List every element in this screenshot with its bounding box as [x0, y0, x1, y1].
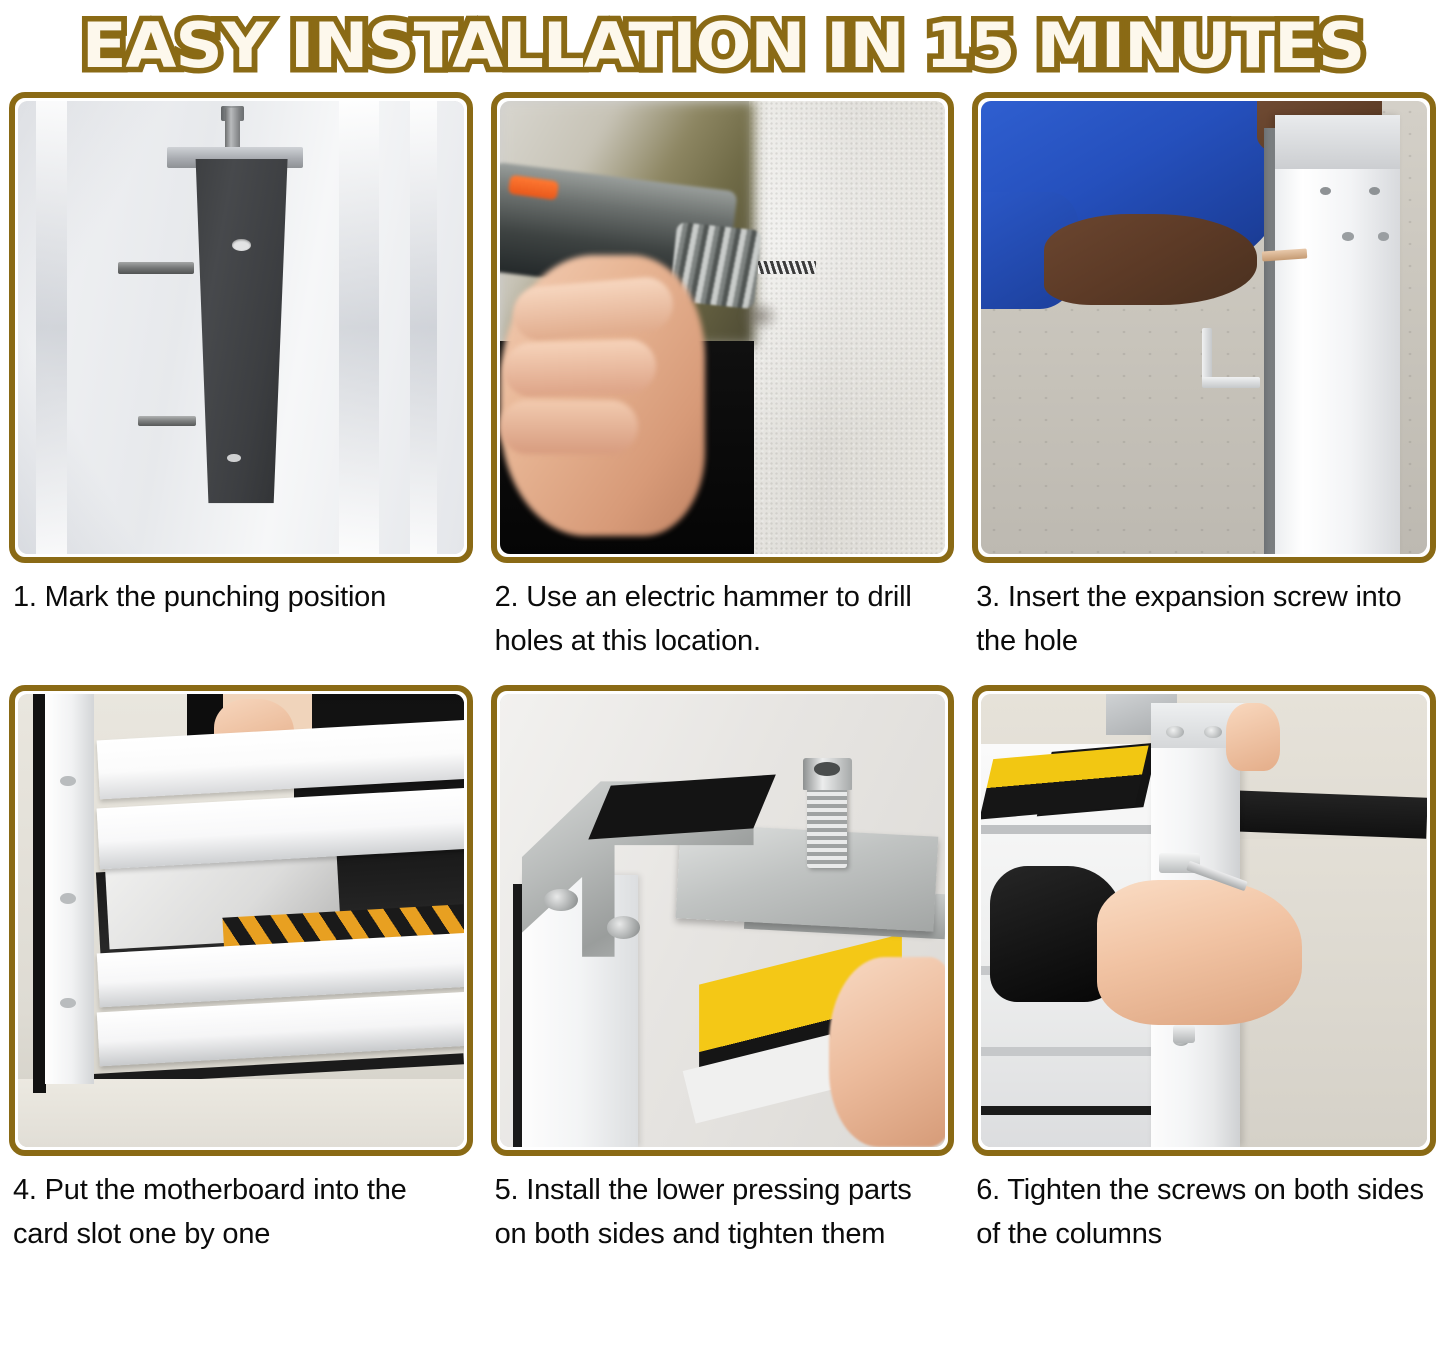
step-3-photo-frame [972, 92, 1436, 563]
installation-steps-grid: 1. Mark the punching position [0, 92, 1445, 1256]
side-bolt-lower [138, 416, 196, 426]
step-6-caption: 6. Tighten the screws on both sides of t… [972, 1168, 1436, 1256]
step-6-photo-tighten-screws [981, 694, 1427, 1147]
cloth-crease [410, 101, 437, 554]
finger [500, 400, 638, 454]
title-banner: EASY INSTALLATION IN 15 MINUTES [0, 0, 1445, 92]
step-2-caption: 2. Use an electric hammer to drill holes… [491, 575, 955, 663]
steps-row-top: 1. Mark the punching position [0, 92, 1445, 663]
step-cell-2: 2. Use an electric hammer to drill holes… [482, 92, 964, 663]
cloth-crease [339, 101, 379, 554]
phillips-screw [607, 916, 640, 939]
step-cell-4: 4. Put the motherboard into the card slo… [0, 685, 482, 1256]
step-3-photo-insert-expansion-screw [981, 101, 1427, 554]
step-cell-5: 5. Install the lower pressing parts on b… [482, 685, 964, 1256]
step-5-photo-frame [491, 685, 955, 1156]
black-baseboard [1230, 790, 1427, 838]
step-5-caption: 5. Install the lower pressing parts on b… [491, 1168, 955, 1256]
step-4-caption: 4. Put the motherboard into the card slo… [9, 1168, 473, 1256]
screw-fitting-lower [1173, 1025, 1195, 1043]
phillips-screw [544, 889, 577, 912]
hand [1097, 880, 1302, 1025]
white-column [1275, 115, 1400, 554]
page-title: EASY INSTALLATION IN 15 MINUTES [73, 12, 1373, 80]
step-cell-1: 1. Mark the punching position [0, 92, 482, 663]
floor-surface [18, 1079, 464, 1147]
step-cell-3: 3. Insert the expansion screw into the h… [963, 92, 1445, 663]
column-screw [1204, 726, 1222, 739]
hand [829, 957, 945, 1147]
column-screw [1378, 232, 1390, 240]
step-5-photo-install-lower-pressing-parts [500, 694, 946, 1147]
board-seam [981, 1047, 1150, 1056]
worker-forearm [1044, 214, 1258, 305]
steps-row-bottom: 4. Put the motherboard into the card slo… [0, 685, 1445, 1256]
finger [503, 338, 656, 398]
step-2-photo-drill-holes [500, 101, 946, 554]
step-6-photo-frame [972, 685, 1436, 1156]
column-screw [1342, 232, 1354, 240]
allen-key-short-arm [1202, 377, 1260, 388]
drill-dust [740, 300, 780, 332]
cloth-crease [36, 101, 67, 554]
thumb [1226, 703, 1279, 771]
side-bolt-upper [118, 262, 194, 274]
base-seal-strip [981, 1106, 1150, 1115]
column-top-plate [1275, 115, 1400, 169]
hex-socket [814, 762, 841, 776]
step-4-photo-insert-boards-into-slot [18, 694, 464, 1147]
step-3-caption: 3. Insert the expansion screw into the h… [972, 575, 1436, 663]
step-1-photo-mark-punching-position [18, 101, 464, 554]
step-2-photo-frame [491, 92, 955, 563]
step-4-photo-frame [9, 685, 473, 1156]
step-1-caption: 1. Mark the punching position [9, 575, 473, 619]
board-seam [981, 825, 1150, 834]
mounting-hole-upper [232, 239, 251, 251]
drill-bit [758, 261, 816, 274]
white-column-with-slot [45, 694, 94, 1084]
step-cell-6: 6. Tighten the screws on both sides of t… [963, 685, 1445, 1256]
step-1-photo-frame [9, 92, 473, 563]
